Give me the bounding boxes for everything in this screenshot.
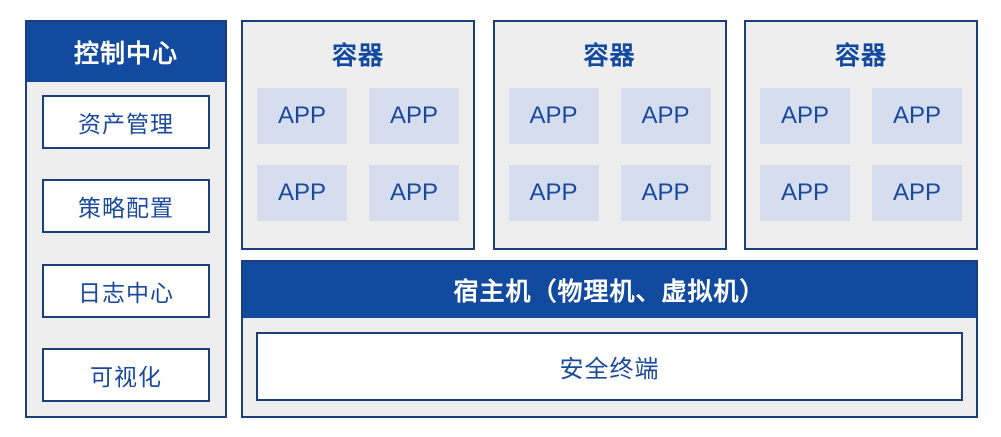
architecture-diagram: 控制中心 资产管理 策略配置 日志中心 可视化 容器 APP APP APP A… <box>0 0 1001 437</box>
containers-row: 容器 APP APP APP APP 容器 APP APP APP APP 容器… <box>241 20 978 250</box>
container-box-3: 容器 APP APP APP APP <box>744 20 978 250</box>
sidebar-item-visualization[interactable]: 可视化 <box>42 348 210 402</box>
control-center-panel: 控制中心 资产管理 策略配置 日志中心 可视化 <box>25 20 227 418</box>
app-grid: APP APP APP APP <box>257 88 459 221</box>
app-tile[interactable]: APP <box>621 165 711 221</box>
app-tile[interactable]: APP <box>369 88 459 144</box>
container-title: 容器 <box>583 36 635 72</box>
sidebar-item-asset-management[interactable]: 资产管理 <box>42 95 210 149</box>
app-tile[interactable]: APP <box>509 165 599 221</box>
host-panel: 宿主机（物理机、虚拟机） 安全终端 <box>241 260 978 418</box>
host-body: 安全终端 <box>243 318 976 416</box>
sidebar-item-label: 资产管理 <box>78 105 174 139</box>
host-header: 宿主机（物理机、虚拟机） <box>243 262 976 318</box>
container-title: 容器 <box>332 36 384 72</box>
app-grid: APP APP APP APP <box>509 88 711 221</box>
app-tile[interactable]: APP <box>621 88 711 144</box>
sidebar-item-label: 策略配置 <box>78 189 174 223</box>
sidebar-item-log-center[interactable]: 日志中心 <box>42 264 210 318</box>
container-title: 容器 <box>835 36 887 72</box>
app-tile[interactable]: APP <box>760 165 850 221</box>
security-endpoint-box[interactable]: 安全终端 <box>256 332 963 401</box>
control-center-item-list: 资产管理 策略配置 日志中心 可视化 <box>27 82 225 416</box>
app-tile[interactable]: APP <box>872 165 962 221</box>
app-tile[interactable]: APP <box>760 88 850 144</box>
container-box-1: 容器 APP APP APP APP <box>241 20 475 250</box>
sidebar-item-policy-configuration[interactable]: 策略配置 <box>42 179 210 233</box>
app-tile[interactable]: APP <box>257 88 347 144</box>
control-center-header: 控制中心 <box>27 22 225 82</box>
app-tile[interactable]: APP <box>369 165 459 221</box>
sidebar-item-label: 可视化 <box>90 358 162 392</box>
app-tile[interactable]: APP <box>509 88 599 144</box>
app-grid: APP APP APP APP <box>760 88 962 221</box>
sidebar-item-label: 日志中心 <box>78 274 174 308</box>
app-tile[interactable]: APP <box>257 165 347 221</box>
app-tile[interactable]: APP <box>872 88 962 144</box>
container-box-2: 容器 APP APP APP APP <box>493 20 727 250</box>
